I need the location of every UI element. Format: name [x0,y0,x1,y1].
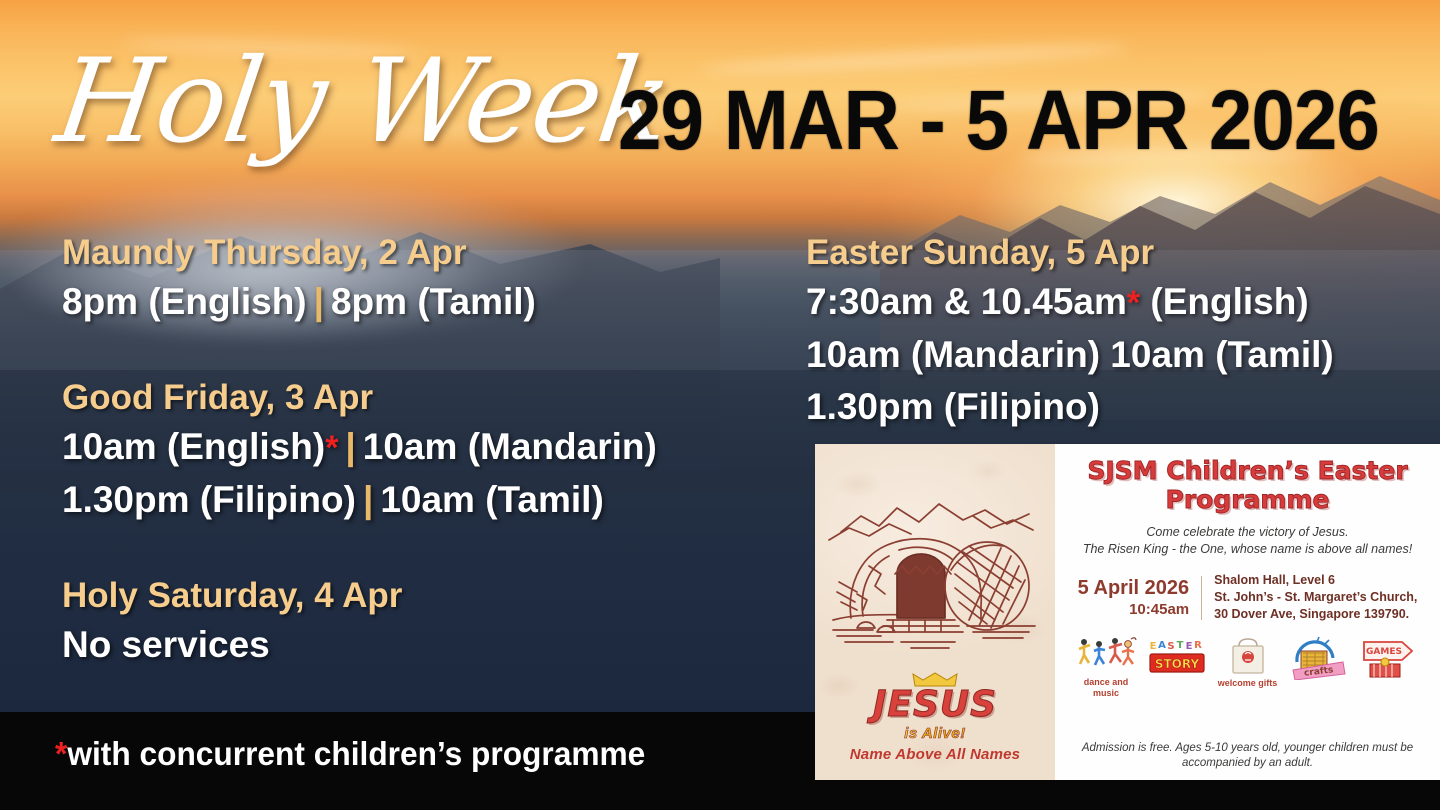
jesus-is-alive-logo: JESUS is Alive! Name Above All Names [815,672,1055,763]
service-line: 10am (English)*|10am (Mandarin) [62,421,802,474]
jesus-wordmark: JESUS [815,686,1055,724]
service-line: 1.30pm (Filipino)|10am (Tamil) [62,474,802,527]
day-block-easter-sunday: Easter Sunday, 5 Apr 7:30am & 10.45am* (… [806,230,1436,433]
separator: | [338,426,362,467]
childrens-easter-programme-flyer: JESUS is Alive! Name Above All Names SJS… [815,444,1440,780]
flyer-datetime: 5 April 2026 10:45am [1078,576,1203,620]
is-alive-text: is Alive! [815,725,1055,742]
holy-week-poster: Holy Week 29 MAR - 5 APR 2026 Maundy Thu… [0,0,1440,810]
svg-text:R: R [1194,640,1202,651]
svg-text:E: E [1149,641,1156,652]
day-heading: Good Friday, 3 Apr [62,375,802,421]
svg-text:S: S [1167,641,1174,652]
activity-crafts: crafts [1285,636,1351,687]
separator: | [356,479,380,520]
service-time-a: No services [62,624,270,665]
activity-caption: welcome gifts [1215,678,1281,689]
poster-date-range: 29 MAR - 5 APR 2026 [618,78,1379,162]
service-time-b: 10am (Tamil) [380,479,603,520]
day-heading: Easter Sunday, 5 Apr [806,230,1436,276]
welcome-gifts-icon [1225,636,1271,676]
schedule-right-column: Easter Sunday, 5 Apr 7:30am & 10.45am* (… [806,230,1436,437]
day-block-holy-saturday: Holy Saturday, 4 Apr No services [62,573,802,671]
separator: | [307,281,331,322]
day-block-maundy-thursday: Maundy Thursday, 2 Apr 8pm (English)|8pm… [62,230,802,329]
dance-and-music-icon [1075,636,1137,670]
service-line: 10am (Mandarin) 10am (Tamil) [806,329,1436,381]
name-above-all-names-text: Name Above All Names [815,746,1055,763]
day-heading: Maundy Thursday, 2 Apr [62,230,802,276]
empty-tomb-illustration [823,470,1049,680]
crafts-icon: crafts [1287,636,1349,680]
spacer [62,531,802,573]
flyer-activity-icons: dance and music E A S T E R [1069,636,1426,699]
venue-line-2: St. John’s - St. Margaret’s Church, [1214,589,1417,606]
svg-text:T: T [1176,640,1183,651]
service-time-a: 10am (English) [62,426,325,467]
easter-story-icon: E A S T E R STORY [1146,636,1208,682]
service-time-b: 8pm (Tamil) [331,281,536,322]
asterisk: * [325,429,338,467]
flyer-venue: Shalom Hall, Level 6 St. John’s - St. Ma… [1202,572,1417,623]
service-time-a: 10am (Mandarin) 10am (Tamil) [806,334,1334,375]
footnote-asterisk: * [55,735,67,772]
venue-line-1: Shalom Hall, Level 6 [1214,572,1417,589]
games-icon: GAMES [1358,636,1420,680]
flyer-time: 10:45am [1078,600,1190,620]
activity-welcome-gifts: welcome gifts [1215,636,1281,689]
service-time-a: 7:30am & 10.45am [806,281,1127,322]
flyer-footer-note: Admission is free. Ages 5-10 years old, … [1069,741,1426,771]
service-line: 7:30am & 10.45am* (English) [806,276,1436,329]
service-line: 1.30pm (Filipino) [806,381,1436,433]
svg-text:E: E [1185,641,1192,652]
service-time-a: 1.30pm (Filipino) [62,479,356,520]
service-time-b: 10am (Mandarin) [363,426,657,467]
is-word: is [904,725,918,742]
poster-title-script: Holy Week [50,44,676,160]
day-heading: Holy Saturday, 4 Apr [62,573,802,619]
flyer-artwork-panel: JESUS is Alive! Name Above All Names [815,444,1055,780]
venue-line-3: 30 Dover Ave, Singapore 139790. [1214,606,1417,623]
service-line: No services [62,619,802,671]
svg-text:STORY: STORY [1155,657,1200,671]
activity-caption: dance and music [1073,677,1139,699]
footnote: *with concurrent children’s programme [55,735,645,773]
service-time-a: 1.30pm (Filipino) [806,386,1100,427]
spacer [62,333,802,375]
asterisk: * [1127,284,1140,322]
flyer-subtitle: Come celebrate the victory of Jesus. The… [1069,524,1426,558]
service-time-a: 8pm (English) [62,281,307,322]
flyer-details: 5 April 2026 10:45am Shalom Hall, Level … [1069,572,1426,623]
flyer-title: SJSM Children’s Easter Programme [1069,456,1426,514]
day-block-good-friday: Good Friday, 3 Apr 10am (English)*|10am … [62,375,802,527]
alive-word: Alive! [922,725,966,742]
svg-text:A: A [1158,640,1166,651]
service-line: 8pm (English)|8pm (Tamil) [62,276,802,329]
svg-text:GAMES: GAMES [1366,647,1402,657]
flyer-info-panel: SJSM Children’s Easter Programme Come ce… [1055,444,1440,780]
activity-games: GAMES [1356,636,1422,687]
activity-easter-story: E A S T E R STORY [1144,636,1210,689]
footnote-text: with concurrent children’s programme [67,735,645,772]
flyer-subtitle-line1: Come celebrate the victory of Jesus. [1069,524,1426,541]
flyer-subtitle-line2: The Risen King - the One, whose name is … [1069,541,1426,558]
schedule-left-column: Maundy Thursday, 2 Apr 8pm (English)|8pm… [62,230,802,675]
activity-dance-and-music: dance and music [1073,636,1139,699]
flyer-date: 5 April 2026 [1078,576,1190,600]
service-time-b: (English) [1140,281,1309,322]
